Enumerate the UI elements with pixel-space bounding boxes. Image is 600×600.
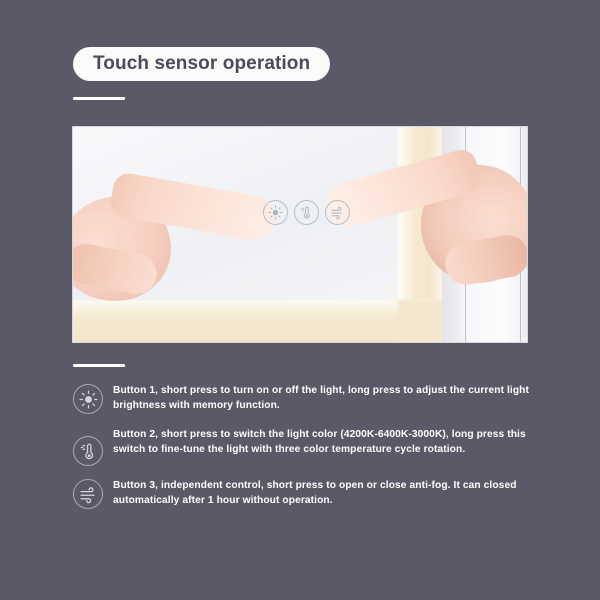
- left-hand: [72, 163, 265, 303]
- brightness-icon: [268, 205, 283, 220]
- divider-under-title: [73, 97, 125, 100]
- right-hand: [343, 143, 528, 289]
- divider-above-instructions: [73, 364, 125, 367]
- brightness-icon: [73, 384, 103, 414]
- instruction-list: Button 1, short press to turn on or off …: [73, 383, 543, 522]
- product-photo: [72, 126, 528, 343]
- instruction-row: Button 2, short press to switch the ligh…: [73, 427, 543, 466]
- instruction-text: Button 1, short press to turn on or off …: [113, 383, 543, 413]
- touch-button-brightness[interactable]: [263, 200, 288, 225]
- anti-fog-icon: [73, 479, 103, 509]
- instruction-row: Button 3, independent control, short pre…: [73, 478, 543, 509]
- touch-button-color-temperature[interactable]: [294, 200, 319, 225]
- instruction-row: Button 1, short press to turn on or off …: [73, 383, 543, 414]
- led-glow-horizontal: [73, 300, 442, 343]
- page-title: Touch sensor operation: [93, 53, 310, 75]
- led-glow-corner: [398, 300, 442, 343]
- page-title-pill: Touch sensor operation: [73, 47, 330, 81]
- anti-fog-icon: [330, 205, 345, 220]
- color-temperature-icon: [299, 205, 314, 220]
- touch-sensor-button-row: [263, 200, 350, 225]
- instruction-text: Button 3, independent control, short pre…: [113, 478, 543, 508]
- touch-button-anti-fog[interactable]: [325, 200, 350, 225]
- instruction-text: Button 2, short press to switch the ligh…: [113, 427, 543, 457]
- color-temperature-icon: [73, 436, 103, 466]
